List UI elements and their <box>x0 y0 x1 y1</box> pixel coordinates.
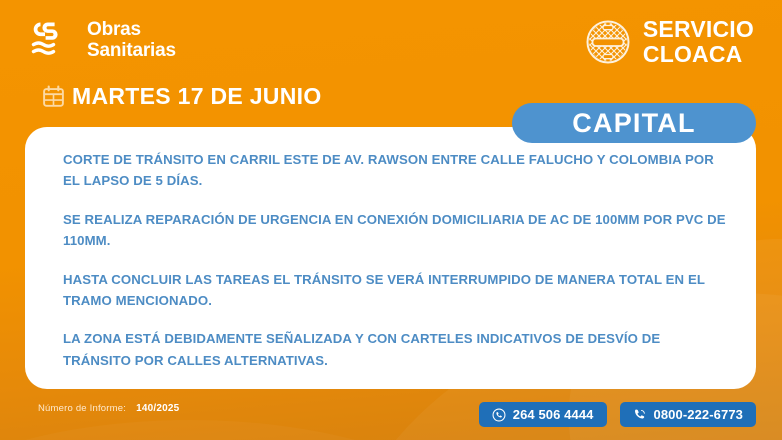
phone-number: 0800-222-6773 <box>654 407 744 422</box>
report-number-value: 140/2025 <box>136 403 179 414</box>
notice-poster: Obras Sanitarias SERVICIO CLOACA <box>0 0 782 440</box>
capital-badge-label: CAPITAL <box>572 108 695 139</box>
status-badge-capital: CAPITAL <box>512 103 756 143</box>
whatsapp-icon <box>492 408 506 422</box>
phone-contact-button[interactable]: 0800-222-6773 <box>620 402 757 427</box>
service-lockup: SERVICIO CLOACA <box>584 17 754 67</box>
notice-paragraph: LA ZONA ESTÁ DEBIDAMENTE SEÑALIZADA Y CO… <box>63 328 732 371</box>
notice-card: CORTE DE TRÁNSITO EN CARRIL ESTE DE AV. … <box>25 127 756 389</box>
notice-paragraph: SE REALIZA REPARACIÓN DE URGENCIA EN CON… <box>63 209 732 252</box>
calendar-icon <box>42 85 65 108</box>
manhole-cover-icon <box>584 18 632 66</box>
report-number: Número de Informe: 140/2025 <box>38 403 179 414</box>
contact-buttons: 264 506 4444 0800-222-6773 <box>479 402 756 427</box>
service-name: SERVICIO CLOACA <box>643 17 754 67</box>
notice-paragraph: CORTE DE TRÁNSITO EN CARRIL ESTE DE AV. … <box>63 149 732 192</box>
whatsapp-number: 264 506 4444 <box>513 407 594 422</box>
brand-lockup: Obras Sanitarias <box>30 18 176 62</box>
background-swoosh-c <box>0 420 500 440</box>
phone-icon <box>633 408 647 422</box>
date-line: MARTES 17 DE JUNIO <box>42 83 322 110</box>
brand-name: Obras Sanitarias <box>87 19 176 62</box>
obras-sanitarias-os-waves-logo-icon <box>30 18 74 62</box>
date-text: MARTES 17 DE JUNIO <box>72 83 322 110</box>
notice-body: CORTE DE TRÁNSITO EN CARRIL ESTE DE AV. … <box>63 149 732 371</box>
notice-paragraph: HASTA CONCLUIR LAS TAREAS EL TRÁNSITO SE… <box>63 269 732 312</box>
report-number-label: Número de Informe: <box>38 403 126 414</box>
whatsapp-contact-button[interactable]: 264 506 4444 <box>479 402 607 427</box>
